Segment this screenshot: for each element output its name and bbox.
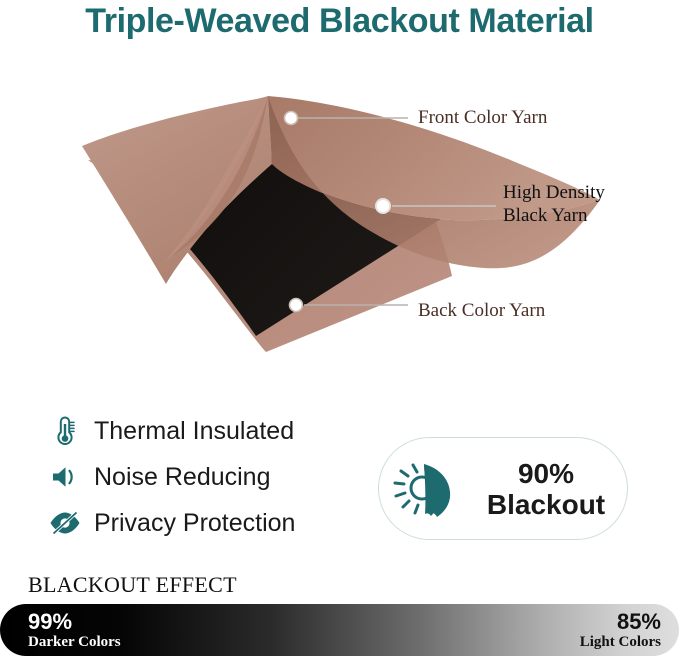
feature-privacy-protection: Privacy Protection xyxy=(44,500,374,546)
light-colors-label: Light Colors xyxy=(580,634,661,651)
feature-label: Noise Reducing xyxy=(94,463,271,492)
page-title: Triple-Weaved Blackout Material xyxy=(0,2,679,41)
blackout-badge-text: 90% Blackout xyxy=(471,458,621,520)
blackout-label: Blackout xyxy=(487,489,605,520)
blackout-percent: 90% xyxy=(518,458,574,489)
darker-colors-label: Darker Colors xyxy=(28,634,121,651)
label-line-2: Black Yarn xyxy=(503,204,605,227)
label-high-density-black-yarn: High Density Black Yarn xyxy=(503,181,605,227)
blackout-effect-gradient-bar: 99% Darker Colors 85% Light Colors xyxy=(0,604,679,656)
feature-label: Thermal Insulated xyxy=(94,417,294,446)
label-back-color-yarn: Back Color Yarn xyxy=(418,299,545,322)
blackout-effect-heading: BLACKOUT EFFECT xyxy=(28,572,237,598)
feature-label: Privacy Protection xyxy=(94,509,295,538)
speaker-sound-icon xyxy=(44,458,86,496)
feature-list: Thermal Insulated Noise Reducing Privacy… xyxy=(44,408,374,546)
blackout-badge: 90% Blackout xyxy=(378,437,628,540)
feature-thermal-insulated: Thermal Insulated xyxy=(44,408,374,454)
label-line-1: High Density xyxy=(503,181,605,204)
sun-blocked-by-curtain-icon xyxy=(385,455,471,523)
eye-slash-icon xyxy=(44,504,86,542)
light-colors-percent: 85% xyxy=(580,610,661,634)
light-colors-stat: 85% Light Colors xyxy=(580,610,661,651)
feature-noise-reducing: Noise Reducing xyxy=(44,454,374,500)
label-front-color-yarn: Front Color Yarn xyxy=(418,106,547,129)
darker-colors-stat: 99% Darker Colors xyxy=(28,610,121,651)
darker-colors-percent: 99% xyxy=(28,610,121,634)
thermometer-icon xyxy=(44,412,86,450)
